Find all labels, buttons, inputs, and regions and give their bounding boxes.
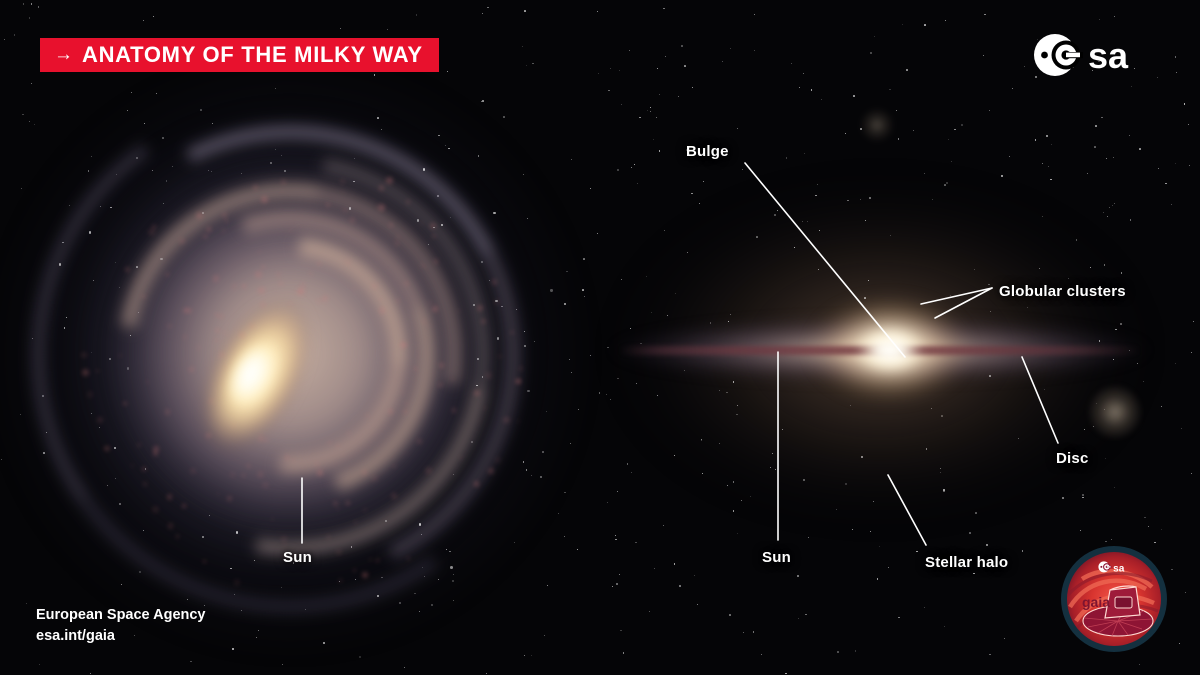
agency-name: European Space Agency <box>36 605 206 626</box>
gaia-mission-badge: sa gai <box>1060 545 1168 653</box>
gaia-badge-graphic: sa gai <box>1060 545 1168 653</box>
galactic-centre <box>856 328 924 372</box>
globular-cluster-glow <box>860 108 894 142</box>
esa-wordmark-text: sa <box>1088 35 1129 76</box>
label-sun-edge-on: Sun <box>762 549 791 566</box>
svg-text:sa: sa <box>1113 564 1125 575</box>
esa-logo: sa <box>1030 32 1170 78</box>
label-globular-clusters: Globular clusters <box>999 283 1126 300</box>
gaia-wordmark-text: gaia <box>1082 594 1110 610</box>
arrow-right-icon: → <box>54 45 73 64</box>
label-disc: Disc <box>1056 450 1089 467</box>
infographic-canvas: Bulge Globular clusters Disc Sun Stellar… <box>0 0 1200 675</box>
label-stellar-halo: Stellar halo <box>925 554 1008 571</box>
footer-credit: European Space Agency esa.int/gaia <box>36 605 206 647</box>
globular-cluster-glow <box>1088 385 1142 439</box>
esa-logo-mark: sa <box>1030 32 1170 78</box>
title-banner: → ANATOMY OF THE MILKY WAY <box>40 38 439 72</box>
label-sun-face-on: Sun <box>283 549 312 566</box>
edge-on-galaxy-illustration <box>560 60 1200 620</box>
label-bulge: Bulge <box>686 143 729 160</box>
page-title: ANATOMY OF THE MILKY WAY <box>82 44 423 66</box>
website-url[interactable]: esa.int/gaia <box>36 626 206 647</box>
